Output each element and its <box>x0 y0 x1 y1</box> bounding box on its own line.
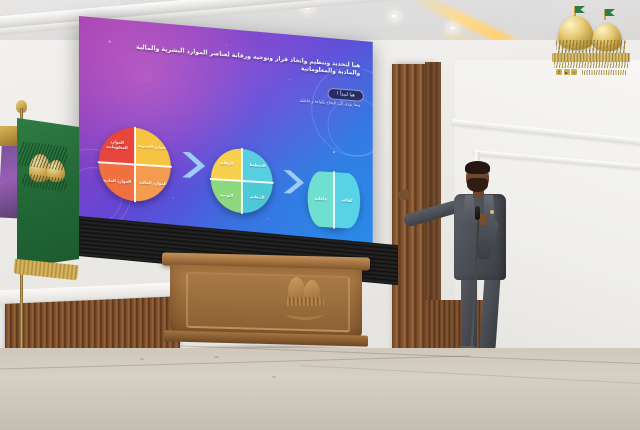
podium-body <box>170 264 362 337</box>
side-decor-finial <box>0 126 18 146</box>
logo-subtitle-calligraphy <box>554 62 628 68</box>
logo-pennant-icon <box>575 6 585 13</box>
video-icon: ▶ <box>564 69 570 75</box>
wheel-segment: الموارد البشرية <box>135 128 171 167</box>
logo-base-ornament <box>552 53 630 62</box>
leg-right <box>479 276 500 351</box>
wheel-segment-label: الرقابة <box>219 160 234 168</box>
chevron-right-icon <box>180 149 205 182</box>
hair <box>465 161 490 174</box>
wood-slat-baseboard-left <box>5 296 180 356</box>
carpeted-floor <box>0 348 640 430</box>
wheel-segment-label: الموارد البشرية <box>137 143 169 152</box>
wheel-segment-label: كفاءة <box>342 198 353 203</box>
legs <box>460 276 502 350</box>
efficiency-effectiveness-wheel: فاعلية كفاءة <box>308 171 361 229</box>
wheel-segment-label: الموارد المعلوماتية <box>99 138 135 152</box>
wheel-segment-label: التوجيه <box>219 192 234 200</box>
flag-calligraphy <box>18 141 69 171</box>
star-speck <box>226 45 227 46</box>
shrine-logo-watermark: f ▶ ◎ <box>548 4 634 80</box>
wheel-segment: كفاءة <box>334 172 360 229</box>
star-speck <box>289 79 290 80</box>
instagram-icon: ◎ <box>571 69 577 75</box>
logo-pennant-icon <box>605 9 615 16</box>
logo-social-row: f ▶ ◎ <box>556 69 626 75</box>
wheel-segment: التنظيم <box>242 181 273 215</box>
floor-speck <box>214 356 219 358</box>
wheel-segment: الرقابة <box>211 147 242 181</box>
lapel-pin-icon <box>490 210 494 214</box>
star-speck <box>150 80 151 81</box>
downlight-icon <box>448 25 457 31</box>
presenter <box>418 158 538 358</box>
floor-speck <box>140 358 144 360</box>
podium-dome-emblem-icon <box>284 275 326 315</box>
wheel-segment: التوجيه <box>211 179 242 213</box>
wooden-podium <box>166 255 366 347</box>
wheel-segment-label: فاعلية <box>315 196 327 202</box>
ceremonial-flag <box>17 118 79 268</box>
wheel-segment: الموارد المعلوماتية <box>99 125 135 164</box>
downlight-icon <box>390 13 399 19</box>
wheel-segment: الموارد المالية <box>135 165 171 204</box>
chevron-right-icon <box>282 167 304 197</box>
wheel-segment-label: التخطيط <box>248 162 266 170</box>
star-speck <box>109 40 111 42</box>
slide-canvas: هيا لتحديد وتنظيم واتخاذ قرار وتوجيه ورق… <box>79 16 373 246</box>
microphone-icon <box>475 206 480 220</box>
floor-seam <box>300 365 640 384</box>
star-speck <box>267 218 268 219</box>
floor-seam <box>0 355 470 369</box>
beard <box>467 178 488 192</box>
management-functions-wheel: الرقابة التخطيط التوجيه التنظيم <box>211 147 273 215</box>
logo-website-url <box>582 70 626 75</box>
wheel-segment-label: التنظيم <box>249 194 265 202</box>
floor-speck <box>272 376 276 378</box>
wheel-segment-label: الموارد المالية <box>138 180 167 189</box>
wheel-divider-vertical <box>333 171 335 229</box>
star-speck <box>173 197 174 198</box>
wheel-segment: فاعلية <box>308 171 334 228</box>
wheel-segment: التخطيط <box>242 149 273 183</box>
star-speck <box>333 151 334 153</box>
facebook-icon: f <box>556 69 562 75</box>
screenshot-root: هيا لتحديد وتنظيم واتخاذ قرار وتوجيه ورق… <box>0 0 640 430</box>
slide-heading: هيا لتحديد وتنظيم واتخاذ قرار وتوجيه ورق… <box>126 42 360 77</box>
wheel-segment-label: الموارد المادية <box>102 177 132 186</box>
presentation-screen: هيا لتحديد وتنظيم واتخاذ قرار وتوجيه ورق… <box>79 16 373 246</box>
